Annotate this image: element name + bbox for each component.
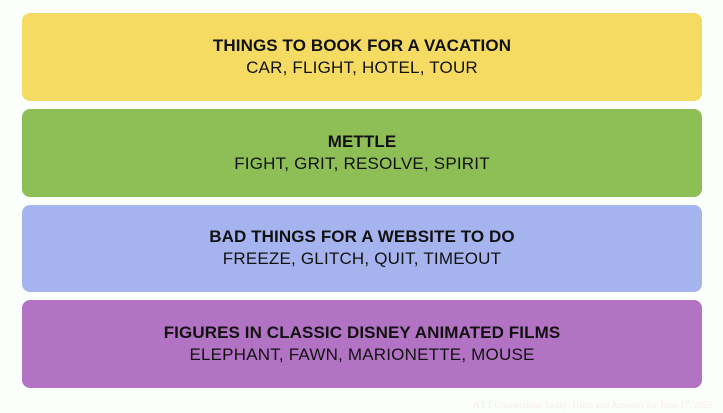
group-title: FIGURES IN CLASSIC DISNEY ANIMATED FILMS	[164, 322, 561, 343]
connections-answer-board: THINGS TO BOOK FOR A VACATION CAR, FLIGH…	[22, 13, 702, 388]
group-members: FREEZE, GLITCH, QUIT, TIMEOUT	[223, 248, 501, 270]
group-card-green[interactable]: METTLE FIGHT, GRIT, RESOLVE, SPIRIT	[22, 109, 702, 197]
group-title: BAD THINGS FOR A WEBSITE TO DO	[209, 226, 515, 247]
group-card-yellow[interactable]: THINGS TO BOOK FOR A VACATION CAR, FLIGH…	[22, 13, 702, 101]
group-title: THINGS TO BOOK FOR A VACATION	[213, 35, 511, 56]
group-members: FIGHT, GRIT, RESOLVE, SPIRIT	[234, 153, 490, 175]
group-card-purple[interactable]: FIGURES IN CLASSIC DISNEY ANIMATED FILMS…	[22, 300, 702, 388]
group-members: CAR, FLIGHT, HOTEL, TOUR	[246, 57, 478, 79]
article-watermark-caption: NYT Connections Today: Hints and Answers…	[473, 399, 713, 411]
group-card-blue[interactable]: BAD THINGS FOR A WEBSITE TO DO FREEZE, G…	[22, 205, 702, 293]
group-members: ELEPHANT, FAWN, MARIONETTE, MOUSE	[189, 344, 534, 366]
group-title: METTLE	[328, 131, 397, 152]
